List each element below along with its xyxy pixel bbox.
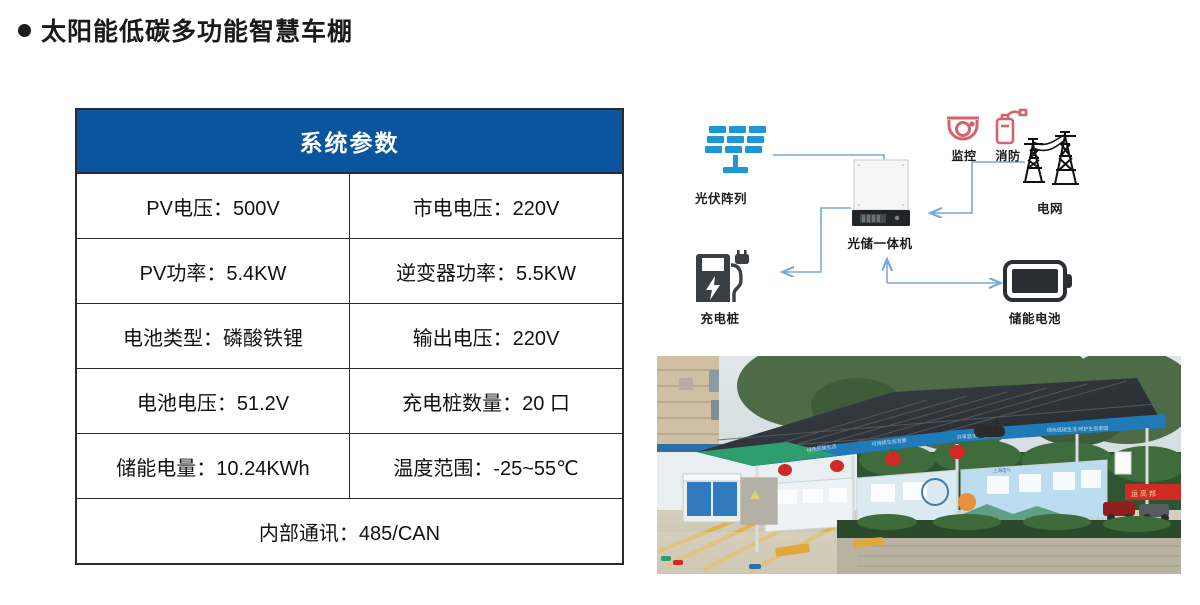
table-row: PV电压：500V 市电电压：220V xyxy=(76,173,623,239)
node-label-monitor: 监控 xyxy=(943,147,985,164)
cell-storage-capacity: 储能电量：10.24KWh xyxy=(76,434,350,499)
node-label-pv: 光伏阵列 xyxy=(673,188,769,207)
cell-internal-communication: 内部通讯：485/CAN xyxy=(76,499,623,565)
cell-pv-voltage: PV电压：500V xyxy=(76,173,350,239)
solar-panel-icon xyxy=(703,122,775,180)
node-label-inverter: 光储一体机 xyxy=(820,233,940,252)
battery-storage-icon xyxy=(1003,258,1075,304)
fire-extinguisher-icon xyxy=(989,106,1029,146)
cell-battery-type: 电池类型：磷酸铁锂 xyxy=(76,304,350,369)
cell-charger-count: 充电桩数量：20 口 xyxy=(350,369,624,434)
carport-photo-illustration: 绿色低碳生活 可持续生态发展 共享蓝天白云 绿色低碳生活 呵护生态家园 xyxy=(657,356,1181,574)
security-camera-icon xyxy=(943,108,983,146)
system-architecture-diagram: 光伏阵列 光储一体机 xyxy=(655,100,1175,345)
system-parameters-table: 系统参数 PV电压：500V 市电电压：220V PV功率：5.4KW 逆变器功… xyxy=(75,108,624,565)
node-label-grid: 电网 xyxy=(1005,198,1095,217)
node-label-battery: 储能电池 xyxy=(990,308,1080,327)
cell-battery-voltage: 电池电压：51.2V xyxy=(76,369,350,434)
page-title: 太阳能低碳多功能智慧车棚 xyxy=(18,12,353,48)
table-row: 储能电量：10.24KWh 温度范围：-25~55℃ xyxy=(76,434,623,499)
cell-pv-power: PV功率：5.4KW xyxy=(76,239,350,304)
node-label-charger: 充电桩 xyxy=(685,308,755,327)
cell-output-voltage: 输出电压：220V xyxy=(350,304,624,369)
cell-inverter-power: 逆变器功率：5.5KW xyxy=(350,239,624,304)
table-header-row: 系统参数 xyxy=(76,109,623,173)
table-row: 电池类型：磷酸铁锂 输出电压：220V xyxy=(76,304,623,369)
cell-mains-voltage: 市电电压：220V xyxy=(350,173,624,239)
table-header-title: 系统参数 xyxy=(76,109,623,173)
svg-text:上海电气: 上海电气 xyxy=(993,467,1011,474)
cell-temperature-range: 温度范围：-25~55℃ xyxy=(350,434,624,499)
bullet-dot-icon xyxy=(18,24,31,37)
table-row: 电池电压：51.2V 充电桩数量：20 口 xyxy=(76,369,623,434)
svg-text:运 高 邦: 运 高 邦 xyxy=(1131,489,1156,498)
inverter-cabinet-icon xyxy=(850,158,912,230)
node-label-fire: 消防 xyxy=(987,147,1029,164)
charging-pile-icon xyxy=(693,248,755,306)
solar-carport-photo: 绿色低碳生活 可持续生态发展 共享蓝天白云 绿色低碳生活 呵护生态家园 xyxy=(657,356,1181,574)
page-title-text: 太阳能低碳多功能智慧车棚 xyxy=(41,12,353,48)
table-row: PV功率：5.4KW 逆变器功率：5.5KW xyxy=(76,239,623,304)
table-footer-row: 内部通讯：485/CAN xyxy=(76,499,623,565)
